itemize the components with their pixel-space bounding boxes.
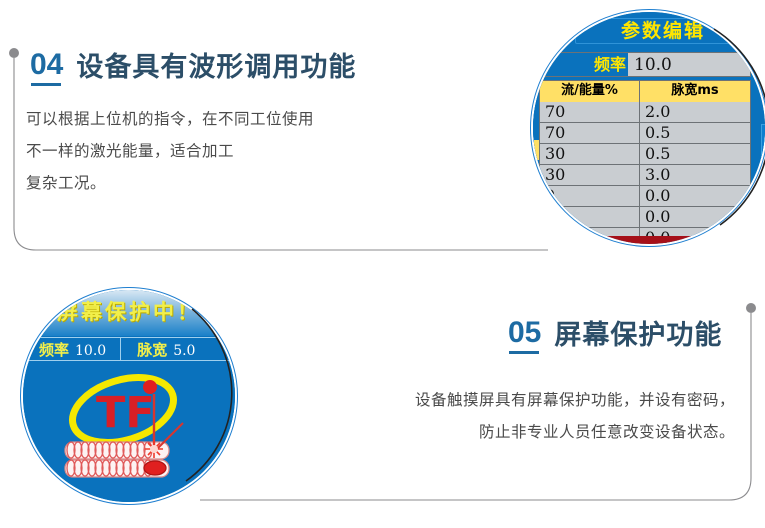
param-edit-title-label: 参数编辑 xyxy=(576,19,750,43)
cell-pulse-width: 0.5 xyxy=(640,144,750,164)
device-screen-saver: 屏幕保护中！ 频率 10.0 脉宽 5.0 TF xyxy=(23,290,235,502)
cell-current: 70 xyxy=(540,102,640,122)
page-root: 04 设备具有波形调用功能 可以根据上位机的指令，在不同工位使用 不一样的激光能… xyxy=(0,0,765,528)
table-row[interactable]: 30 3.0 xyxy=(539,165,751,186)
cell-pulse-width: 0.0 xyxy=(640,186,750,206)
cell-current: 0 xyxy=(540,207,640,227)
section-05-body: 设备触摸屏具有屏幕保护功能，并设有密码， 防止非专业人员任意改变设备状态。 xyxy=(320,385,735,449)
keypad-key-1[interactable]: 1 xyxy=(761,124,765,154)
param-edit-title-button[interactable]: 参数编辑 xyxy=(575,18,751,44)
logo-text: TF xyxy=(96,388,155,438)
photo-parameter-edit: 参数编辑 频率 10.0 流/能量% 脉宽ms 70 2.0 70 0.5 xyxy=(533,12,765,244)
frequency-field[interactable]: 频率 10.0 xyxy=(539,52,751,77)
waveform-chart: 100 50 0 5 xyxy=(761,54,765,112)
column-header-current: 流/能量% xyxy=(540,81,640,102)
parameter-table[interactable]: 流/能量% 脉宽ms 70 2.0 70 0.5 30 0.5 30 3.0 xyxy=(539,80,751,244)
table-row[interactable]: 70 2.0 xyxy=(539,102,751,123)
laser-spark-core-icon xyxy=(150,445,158,453)
cell-pulse-width: 2.0 xyxy=(640,102,750,122)
cell-pulse-width: 3.0 xyxy=(640,165,750,185)
device-screen-parameter-edit: 参数编辑 频率 10.0 流/能量% 脉宽ms 70 2.0 70 0.5 xyxy=(533,12,765,244)
section-05-number: 05 xyxy=(508,318,541,354)
status-bar-red: 测试 xyxy=(577,236,707,244)
keypad-key-7[interactable]: 7 xyxy=(761,184,765,214)
table-row[interactable]: 0 0.0 xyxy=(539,207,751,228)
section-04-number: 04 xyxy=(30,50,63,86)
cell-pulse-width: 0.0 xyxy=(640,207,750,227)
keypad-key-4[interactable]: 4 xyxy=(761,154,765,184)
section-05-heading: 05 屏幕保护功能 xyxy=(508,318,722,354)
table-row[interactable]: 70 0.5 xyxy=(539,123,751,144)
section-04-title: 设备具有波形调用功能 xyxy=(76,54,356,86)
section-04-heading: 04 设备具有波形调用功能 xyxy=(30,50,356,86)
section-05-line-2: 防止非专业人员任意改变设备状态。 xyxy=(320,417,735,449)
screen-saver-logo-artwork: TF xyxy=(23,290,235,502)
cell-current: 30 xyxy=(540,165,640,185)
table-row[interactable]: 30 0.5 xyxy=(539,144,751,165)
cell-current: 70 xyxy=(540,123,640,143)
section-04-line-1: 可以根据上位机的指令，在不同工位使用 xyxy=(26,104,386,136)
section-05-title: 屏幕保护功能 xyxy=(554,322,722,354)
section-05-line-1: 设备触摸屏具有屏幕保护功能，并设有密码， xyxy=(320,385,735,417)
cell-current: 30 xyxy=(540,144,640,164)
frequency-value: 10.0 xyxy=(628,55,750,75)
section-04-line-3: 复杂工况。 xyxy=(26,168,386,200)
cell-current: 0 xyxy=(540,186,640,206)
frequency-label: 频率 xyxy=(540,53,628,76)
table-row[interactable]: 0 0.0 xyxy=(539,186,751,207)
section-04-line-2: 不一样的激光能量，适合加工 xyxy=(26,136,386,168)
frame-dot-top-right xyxy=(746,303,756,313)
photo-screen-saver: 屏幕保护中！ 频率 10.0 脉宽 5.0 TF xyxy=(23,290,235,502)
frame-dot-top-left xyxy=(9,48,19,58)
column-header-pulse-width: 脉宽ms xyxy=(640,81,750,102)
param-edit-secondary-button[interactable] xyxy=(759,18,765,44)
numeric-keypad[interactable]: 1 4 7 xyxy=(761,124,765,244)
cell-pulse-width: 0.5 xyxy=(640,123,750,143)
status-bar-label: 测试 xyxy=(577,236,707,244)
section-04-body: 可以根据上位机的指令，在不同工位使用 不一样的激光能量，适合加工 复杂工况。 xyxy=(26,104,386,200)
table-header-row: 流/能量% 脉宽ms xyxy=(539,80,751,102)
